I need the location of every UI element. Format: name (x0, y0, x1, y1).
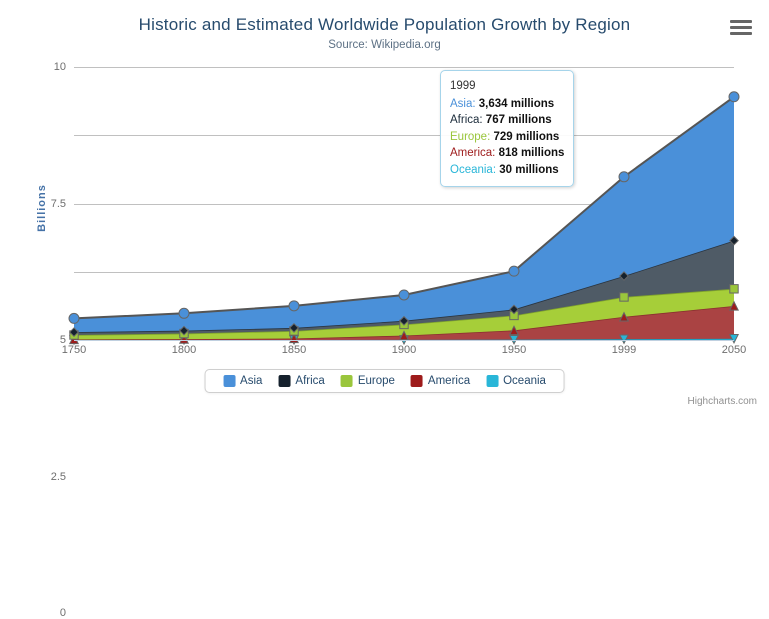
data-point-asia-1999[interactable] (619, 172, 629, 182)
legend-item-europe[interactable]: Europe (341, 375, 395, 387)
chart-legend[interactable]: AsiaAfricaEuropeAmericaOceania (204, 369, 565, 393)
data-point-asia-1750[interactable] (69, 313, 79, 323)
data-point-asia-1850[interactable] (289, 301, 299, 311)
chart-title: Historic and Estimated Worldwide Populat… (0, 15, 769, 35)
y-axis-tick-label: 7.5 (51, 198, 66, 210)
legend-label: Oceania (503, 375, 546, 387)
legend-label: America (428, 375, 470, 387)
data-point-asia-1900[interactable] (399, 290, 409, 300)
data-point-asia-1950[interactable] (509, 266, 519, 276)
x-axis-tick-label: 2050 (722, 344, 746, 356)
legend-item-oceania[interactable]: Oceania (486, 375, 546, 387)
tooltip-series-value: 30 millions (499, 164, 558, 176)
legend-item-asia[interactable]: Asia (223, 375, 262, 387)
hamburger-bar-2 (730, 26, 752, 29)
tooltip-row: Africa: 767 millions (450, 112, 564, 129)
chart-subtitle: Source: Wikipedia.org (0, 39, 769, 51)
legend-label: Africa (295, 375, 324, 387)
y-axis-title: Billions (36, 184, 48, 232)
tooltip-series-name: Oceania: (450, 164, 499, 176)
legend-item-america[interactable]: America (411, 375, 470, 387)
x-axis-tick-label: 1950 (502, 344, 526, 356)
hamburger-bar-3 (730, 32, 752, 35)
tooltip-row: Europe: 729 millions (450, 129, 564, 146)
legend-swatch-icon (278, 375, 290, 387)
tooltip-row: America: 818 millions (450, 145, 564, 162)
tooltip-series-value: 729 millions (493, 131, 559, 143)
legend-label: Europe (358, 375, 395, 387)
hamburger-menu-icon[interactable] (728, 16, 754, 38)
tooltip-series-name: Asia: (450, 98, 479, 110)
tooltip-series-value: 767 millions (486, 114, 552, 126)
plot-area: 02.557.510 (74, 67, 734, 340)
hamburger-bar-1 (730, 20, 752, 23)
x-axis-tick-label: 1800 (172, 344, 196, 356)
tooltip-series-name: Africa: (450, 114, 486, 126)
data-point-asia-1800[interactable] (179, 308, 189, 318)
data-point-europe-1999[interactable] (620, 293, 628, 301)
tooltip-series-value: 3,634 millions (479, 98, 554, 110)
x-axis-tick-label: 1750 (62, 344, 86, 356)
x-axis-tick-label: 1900 (392, 344, 416, 356)
x-axis-tick-label: 1850 (282, 344, 306, 356)
tooltip-rows: Asia: 3,634 millionsAfrica: 767 millions… (450, 96, 564, 179)
highcharts-container: Historic and Estimated Worldwide Populat… (0, 0, 769, 416)
tooltip-series-value: 818 millions (499, 147, 565, 159)
legend-swatch-icon (486, 375, 498, 387)
legend-swatch-icon (411, 375, 423, 387)
tooltip-series-name: America: (450, 147, 499, 159)
legend-swatch-icon (223, 375, 235, 387)
highcharts-credit[interactable]: Highcharts.com (688, 396, 757, 407)
tooltip-row: Asia: 3,634 millions (450, 96, 564, 113)
series-layer (74, 67, 734, 340)
y-axis-tick-label: 2.5 (51, 471, 66, 483)
tooltip-header: 1999 (450, 78, 564, 96)
x-axis-line (74, 340, 734, 341)
tooltip-row: Oceania: 30 millions (450, 162, 564, 179)
data-point-asia-2050[interactable] (729, 92, 739, 102)
x-axis-tick-label: 1999 (612, 344, 636, 356)
legend-label: Asia (240, 375, 262, 387)
legend-swatch-icon (341, 375, 353, 387)
tooltip: 1999 Asia: 3,634 millionsAfrica: 767 mil… (440, 70, 574, 187)
legend-item-africa[interactable]: Africa (278, 375, 324, 387)
y-axis-tick-label: 10 (54, 61, 66, 73)
data-point-europe-2050[interactable] (730, 285, 738, 293)
tooltip-series-name: Europe: (450, 131, 493, 143)
y-axis-tick-label: 0 (60, 607, 66, 619)
